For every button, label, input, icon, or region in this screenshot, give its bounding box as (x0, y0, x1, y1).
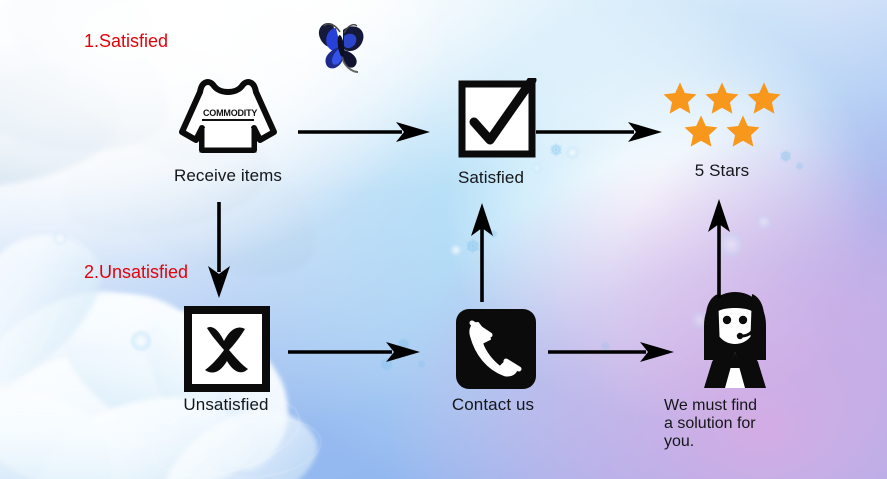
star-icon (746, 80, 782, 116)
arrow-agent-to-stars (700, 196, 738, 300)
agent-label-line-3: you. (664, 433, 820, 451)
node-label-five-stars: 5 Stars (652, 161, 792, 181)
checkbox-cross-icon (150, 305, 300, 393)
five-stars-icon (652, 80, 792, 149)
step-label-1: 1.Satisfied (84, 31, 168, 52)
star-icon (683, 113, 719, 149)
star-icon (704, 80, 740, 116)
node-label-unsatisfied: Unsatisfied (152, 395, 300, 415)
node-label-satisfied: Satisfied (432, 168, 550, 188)
node-label-receive-items: Receive items (156, 166, 300, 186)
agent-label-line-1: We must find (664, 397, 820, 415)
arrow-satisfied-to-stars (534, 114, 664, 150)
node-label-support-agent: We must find a solution for you. (664, 397, 820, 451)
node-satisfied: Satisfied (420, 78, 550, 188)
node-label-contact-us: Contact us (426, 395, 560, 415)
arrow-receive-to-satisfied (296, 114, 432, 150)
arrow-receive-to-unsatisfied (200, 200, 238, 300)
node-five-stars: 5 Stars (652, 80, 792, 181)
star-icon (662, 80, 698, 116)
node-unsatisfied: Unsatisfied (150, 305, 300, 415)
sweater-icon: COMMODITY (156, 70, 300, 162)
arrow-contact-to-satisfied (463, 200, 501, 304)
agent-label-line-2: a solution for (664, 415, 820, 433)
commodity-badge-text: COMMODITY (203, 108, 257, 118)
node-receive-items: COMMODITY Receive items (156, 70, 300, 186)
node-contact-us: Contact us (420, 305, 560, 415)
flow-diagram-canvas: ❅ ❅ ❅ ❅ ❅ ❅ ❅ ❅ ❅ ❅ 1.Satisfied 2.Unsati… (0, 0, 887, 479)
checkbox-check-icon (420, 78, 550, 162)
butterfly-icon (300, 14, 380, 80)
star-icon (725, 113, 761, 149)
arrow-unsatisfied-to-contact (286, 334, 422, 370)
commodity-underline (202, 119, 254, 121)
telephone-icon (420, 305, 560, 393)
star-row-top (652, 80, 792, 116)
star-row-bottom (652, 113, 792, 149)
step-label-2: 2.Unsatisfied (84, 262, 188, 283)
arrow-contact-to-agent (546, 334, 676, 370)
